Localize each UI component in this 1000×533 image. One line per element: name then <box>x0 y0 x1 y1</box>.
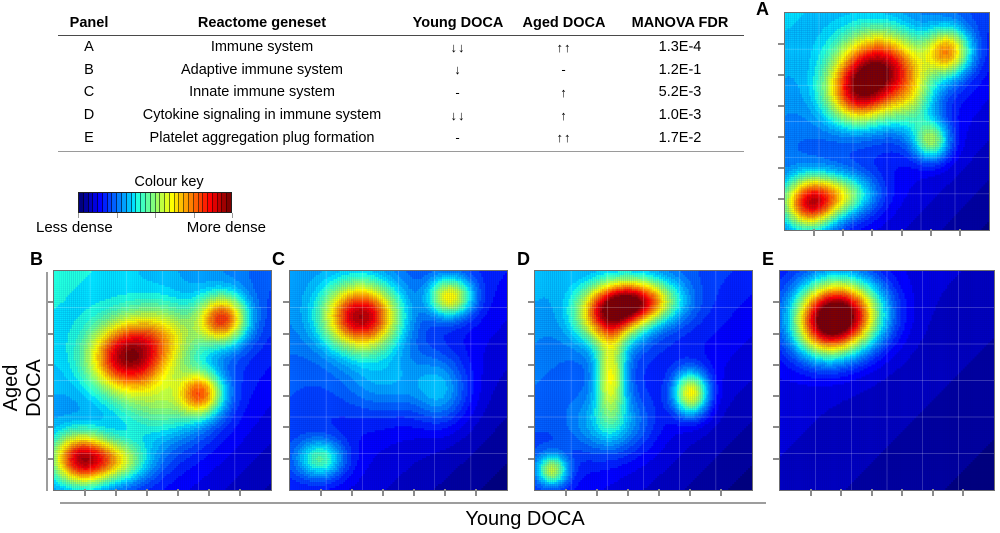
y-tick <box>283 301 289 303</box>
cell-young: ↓↓ <box>404 104 512 127</box>
table-header-row: Panel Reactome geneset Young DOCA Aged D… <box>58 14 744 36</box>
table-header: Panel Reactome geneset Young DOCA Aged D… <box>58 14 744 36</box>
x-tick <box>932 489 934 496</box>
cell-panel: D <box>58 104 120 127</box>
y-tick <box>778 105 784 107</box>
contour-plot-e <box>779 270 995 491</box>
y-tick <box>528 395 534 397</box>
cell-geneset: Cytokine signaling in immune system <box>120 104 404 127</box>
cell-young: ↓ <box>404 59 512 82</box>
table-row: D Cytokine signaling in immune system ↓↓… <box>58 104 744 127</box>
cell-fdr: 5.2E-3 <box>616 81 744 104</box>
contour-field <box>535 271 752 490</box>
col-header-geneset: Reactome geneset <box>120 14 404 36</box>
y-tick <box>778 198 784 200</box>
x-tick <box>596 489 598 496</box>
contour-field <box>290 271 507 490</box>
x-tick <box>871 489 873 496</box>
cell-panel: C <box>58 81 120 104</box>
x-tick <box>444 489 446 496</box>
contour-plot-a <box>784 12 990 231</box>
table-row: E Platelet aggregation plug formation - … <box>58 126 744 151</box>
col-header-aged: Aged DOCA <box>512 14 616 36</box>
cell-aged: ↑ <box>512 81 616 104</box>
y-tick <box>283 458 289 460</box>
colour-key-low-label: Less dense <box>36 219 113 236</box>
colour-key-tick <box>155 213 156 218</box>
x-tick <box>962 489 964 496</box>
y-axis-rule <box>46 272 48 491</box>
x-tick <box>901 489 903 496</box>
colour-key-tick <box>78 213 79 218</box>
cell-aged: ↑↑ <box>512 126 616 151</box>
density-panel-a: A <box>784 12 990 231</box>
panel-label-e: E <box>762 250 774 268</box>
x-tick <box>208 489 210 496</box>
y-tick <box>528 333 534 335</box>
panel-label-d: D <box>517 250 530 268</box>
x-tick <box>840 489 842 496</box>
contour-plot-d <box>534 270 753 491</box>
x-tick <box>901 229 903 236</box>
colour-key: Colour key Less dense More dense <box>36 174 266 236</box>
x-axis-rule <box>60 502 766 504</box>
panel-label-c: C <box>272 250 285 268</box>
y-tick <box>778 43 784 45</box>
y-axis-label: Aged DOCA <box>0 333 46 443</box>
table-row: C Innate immune system - ↑ 5.2E-3 <box>58 81 744 104</box>
cell-panel: A <box>58 36 120 59</box>
y-tick <box>528 301 534 303</box>
colour-key-ticks <box>78 213 232 218</box>
col-header-panel: Panel <box>58 14 120 36</box>
colour-key-title: Colour key <box>36 174 266 190</box>
x-tick <box>475 489 477 496</box>
contour-field <box>54 271 271 490</box>
x-tick <box>239 489 241 496</box>
cell-fdr: 1.0E-3 <box>616 104 744 127</box>
table-row: A Immune system ↓↓ ↑↑ 1.3E-4 <box>58 36 744 59</box>
x-tick <box>627 489 629 496</box>
y-tick <box>773 395 779 397</box>
x-tick <box>351 489 353 496</box>
cell-fdr: 1.2E-1 <box>616 59 744 82</box>
colour-key-labels: Less dense More dense <box>36 219 266 236</box>
cell-aged: ↑↑ <box>512 36 616 59</box>
colour-key-gradient-bar <box>78 192 232 213</box>
cell-aged: ↑ <box>512 104 616 127</box>
y-tick <box>778 136 784 138</box>
cell-panel: B <box>58 59 120 82</box>
y-tick <box>778 74 784 76</box>
x-tick <box>320 489 322 496</box>
x-tick <box>115 489 117 496</box>
cell-panel: E <box>58 126 120 151</box>
y-tick <box>773 458 779 460</box>
summary-table-element: Panel Reactome geneset Young DOCA Aged D… <box>58 14 744 152</box>
cell-geneset: Platelet aggregation plug formation <box>120 126 404 151</box>
contour-plot-c <box>289 270 508 491</box>
x-tick <box>689 489 691 496</box>
geneset-summary-table: Panel Reactome geneset Young DOCA Aged D… <box>58 14 744 152</box>
y-tick <box>283 426 289 428</box>
y-tick <box>528 426 534 428</box>
density-panel-e: E <box>779 270 995 491</box>
col-header-young: Young DOCA <box>404 14 512 36</box>
y-tick <box>283 333 289 335</box>
cell-aged: - <box>512 59 616 82</box>
y-tick <box>773 333 779 335</box>
density-panel-d: D <box>534 270 753 491</box>
cell-fdr: 1.7E-2 <box>616 126 744 151</box>
x-tick <box>177 489 179 496</box>
x-tick <box>565 489 567 496</box>
x-tick <box>720 489 722 496</box>
x-tick <box>382 489 384 496</box>
table-body: A Immune system ↓↓ ↑↑ 1.3E-4 B Adaptive … <box>58 36 744 152</box>
y-tick <box>528 364 534 366</box>
cell-young: ↓↓ <box>404 36 512 59</box>
x-tick <box>959 229 961 236</box>
cell-young: - <box>404 126 512 151</box>
y-tick <box>528 458 534 460</box>
x-tick <box>842 229 844 236</box>
y-tick <box>778 167 784 169</box>
y-tick <box>283 364 289 366</box>
cell-fdr: 1.3E-4 <box>616 36 744 59</box>
colour-key-high-label: More dense <box>187 219 266 236</box>
colour-key-tick <box>117 213 118 218</box>
x-tick <box>810 489 812 496</box>
y-tick <box>773 301 779 303</box>
colour-key-tick <box>194 213 195 218</box>
table-row: B Adaptive immune system ↓ - 1.2E-1 <box>58 59 744 82</box>
contour-plot-b <box>53 270 272 491</box>
cell-young: - <box>404 81 512 104</box>
x-axis-label: Young DOCA <box>400 508 650 531</box>
density-panel-c: C <box>289 270 508 491</box>
density-panel-b: B <box>53 270 272 491</box>
colour-key-swatch <box>227 193 231 212</box>
y-tick <box>773 426 779 428</box>
x-tick <box>146 489 148 496</box>
contour-field <box>780 271 994 490</box>
colour-key-tick <box>232 213 233 218</box>
panel-label-b: B <box>30 250 43 268</box>
cell-geneset: Innate immune system <box>120 81 404 104</box>
y-tick <box>773 364 779 366</box>
y-tick <box>283 395 289 397</box>
cell-geneset: Immune system <box>120 36 404 59</box>
x-tick <box>813 229 815 236</box>
cell-geneset: Adaptive immune system <box>120 59 404 82</box>
x-tick <box>413 489 415 496</box>
x-tick <box>930 229 932 236</box>
contour-field <box>785 13 989 230</box>
x-tick <box>84 489 86 496</box>
col-header-fdr: MANOVA FDR <box>616 14 744 36</box>
x-tick <box>658 489 660 496</box>
x-tick <box>871 229 873 236</box>
panel-label-a: A <box>756 0 769 18</box>
